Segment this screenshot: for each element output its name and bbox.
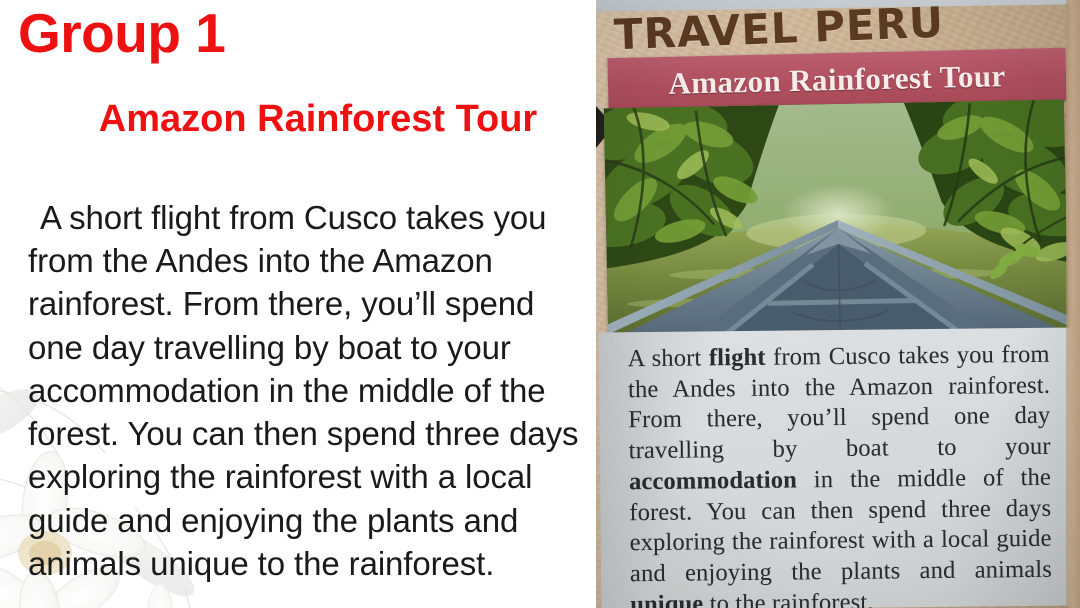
page-title: Group 1: [18, 6, 225, 61]
page-right-edge: [1066, 0, 1080, 608]
slide-body-text: A short flight from Cusco takes you from…: [28, 196, 590, 585]
book-text-run-1: A short: [628, 344, 709, 372]
presentation-slide: Group 1 Amazon Rainforest Tour A short f…: [0, 0, 1080, 608]
slide-subtitle: Amazon Rainforest Tour: [0, 100, 596, 140]
book-paragraph: A short flight from Cusco takes you from…: [628, 340, 1053, 608]
slide-content-pane: Group 1 Amazon Rainforest Tour A short f…: [0, 0, 596, 608]
book-text-bold-accommodation: accommodation: [629, 466, 797, 495]
rainforest-river-photo: [604, 100, 1068, 337]
book-text-run-4: to the rainforest.: [703, 589, 873, 608]
book-text-bold-unique: unique: [630, 590, 703, 608]
brochure-photograph: TRAVEL PERU Amazon Rainforest Tour: [596, 0, 1080, 608]
book-text-bold-flight: flight: [709, 344, 766, 372]
